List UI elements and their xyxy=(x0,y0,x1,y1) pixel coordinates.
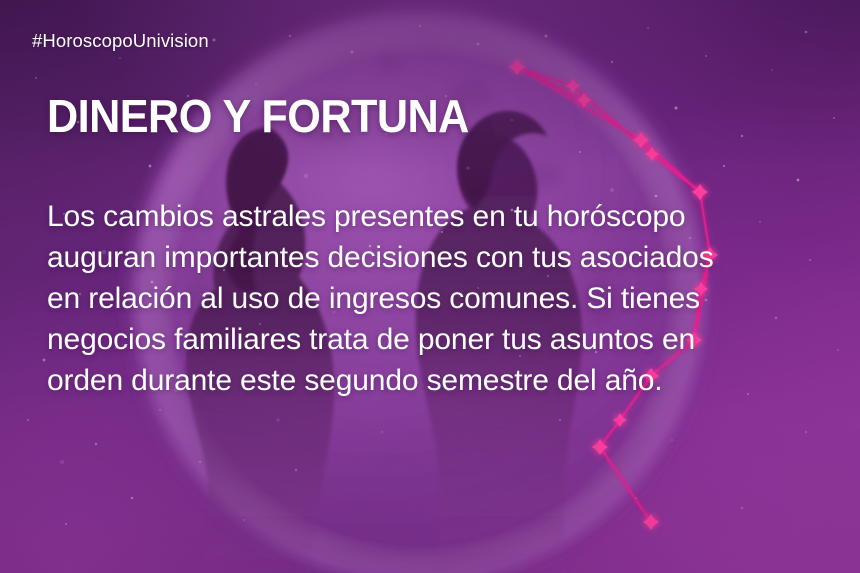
body-line: auguran importantes decisiones con tus a… xyxy=(47,237,807,278)
body-line: orden durante este segundo semestre del … xyxy=(47,360,807,401)
text-content: #HoroscopoUnivision DINERO Y FORTUNA Los… xyxy=(0,0,860,573)
body-line: en relación al uso de ingresos comunes. … xyxy=(47,278,807,319)
horoscope-card: #HoroscopoUnivision DINERO Y FORTUNA Los… xyxy=(0,0,860,573)
page-title: DINERO Y FORTUNA xyxy=(47,93,469,139)
body-line: Los cambios astrales presentes en tu hor… xyxy=(47,196,807,237)
hashtag-label: #HoroscopoUnivision xyxy=(32,30,209,52)
horoscope-body-text: Los cambios astrales presentes en tu hor… xyxy=(47,196,807,401)
body-line: negocios familiares trata de poner tus a… xyxy=(47,319,807,360)
